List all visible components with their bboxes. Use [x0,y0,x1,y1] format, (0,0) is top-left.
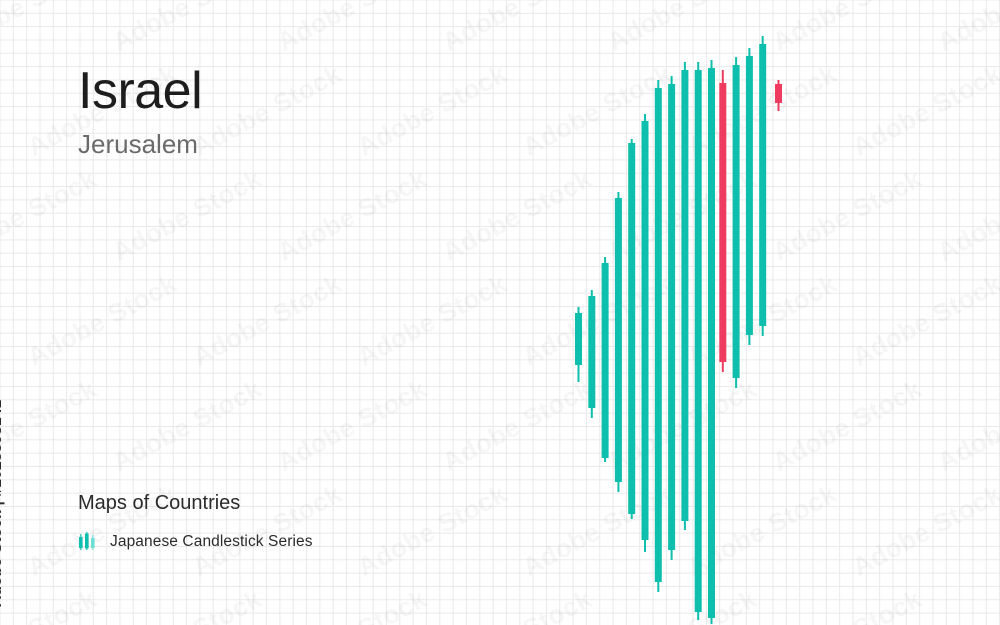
candle-body [588,296,595,408]
watermark-text: Adobe Stock [437,373,597,478]
watermark-text: Adobe Stock [932,163,1000,268]
watermark-text: Adobe Stock [517,58,677,163]
candle-body [775,84,782,103]
watermark-text: Adobe Stock [107,163,267,268]
series-label: Japanese Candlestick Series [110,533,313,551]
page-title: Israel [78,64,202,119]
candle-wick [697,62,699,620]
watermark-text: Adobe Stock [767,373,927,478]
watermark-text: Adobe Stock [437,0,597,58]
candle-body [642,121,649,540]
watermark-text: Adobe Stock [767,163,927,268]
candle-wick [735,57,737,388]
candle-body [602,263,609,458]
watermark-text: Adobe Stock [107,583,267,625]
watermark-text: Adobe Stock [767,583,927,625]
candle-wick [762,36,764,336]
candle-wick [671,76,673,560]
watermark-text: Adobe Stock [602,373,762,478]
candle-body [708,68,715,618]
watermark-text: Adobe Stock [602,163,762,268]
watermark-text: Adobe Stock [682,268,842,373]
watermark-text: Adobe Stock [517,478,677,583]
candle-body [695,70,702,612]
watermark-text: Adobe Stock [847,58,1000,163]
candle-wick [748,48,750,345]
watermark-text: Adobe Stock [352,268,512,373]
watermark-text: Adobe Stock [352,478,512,583]
candle-body [655,88,662,582]
candle-body [575,313,582,365]
watermark-text: Adobe Stock [767,0,927,58]
candle-wick [644,114,646,552]
title-block: Israel Jerusalem [78,64,202,160]
watermark-text: Adobe Stock [932,0,1000,58]
watermark-text: Adobe Stock [932,583,1000,625]
page-subtitle: Jerusalem [78,129,202,160]
watermark-text: Adobe Stock [0,583,102,625]
collection-title: Maps of Countries [78,492,313,515]
watermark-text: Adobe Stock [682,58,842,163]
candle-wick [657,80,659,592]
watermark-text: Adobe Stock [602,583,762,625]
candle-body [733,65,740,378]
candle-wick [617,192,619,492]
candle-wick [631,139,633,519]
watermark-text: Adobe Stock [602,0,762,58]
candle-wick [591,290,593,418]
candle-wick [604,257,606,462]
watermark-text: Adobe Stock [107,0,267,58]
watermark-text: Adobe Stock [682,478,842,583]
watermark-text: Adobe Stock [437,583,597,625]
watermark-text: Adobe Stock [272,0,432,58]
watermark-text: Adobe Stock [0,0,102,58]
watermark-text: Adobe Stock [0,373,102,478]
candle-body [759,44,766,326]
watermark-text: Adobe Stock [847,478,1000,583]
watermark-text: Adobe Stock [272,163,432,268]
series-row: Japanese Candlestick Series [78,532,313,552]
candles-group [575,36,782,624]
candlestick-chart-icon [78,532,100,552]
watermark-text: Adobe Stock [107,373,267,478]
candle-body [681,70,688,521]
footer-block: Maps of Countries Japanese Candlestick S… [78,492,313,552]
watermark-text: Adobe Stock [437,163,597,268]
candle-wick [722,70,724,372]
candle-body [615,198,622,482]
candle-body [668,84,675,550]
candle-wick [711,60,713,624]
watermark-text: Adobe Stock [517,268,677,373]
candle-body [719,83,726,362]
candle-body [746,56,753,335]
watermark-text: Adobe Stock [847,268,1000,373]
stock-credit-label: Adobe Stock | #1028893141 [0,399,6,607]
candle-body [628,143,635,514]
poster-canvas: Adobe StockAdobe StockAdobe StockAdobe S… [0,0,1000,625]
watermark-text: Adobe Stock [272,583,432,625]
watermark-text: Adobe Stock [0,163,102,268]
candle-wick [578,307,580,382]
watermark-text: Adobe Stock [187,58,347,163]
watermark-text: Adobe Stock [352,58,512,163]
watermark-text: Adobe Stock [187,268,347,373]
candle-wick [684,62,686,530]
candle-wick [778,80,780,111]
watermark-text: Adobe Stock [932,373,1000,478]
watermark-text: Adobe Stock [272,373,432,478]
watermark-text: Adobe Stock [22,268,182,373]
